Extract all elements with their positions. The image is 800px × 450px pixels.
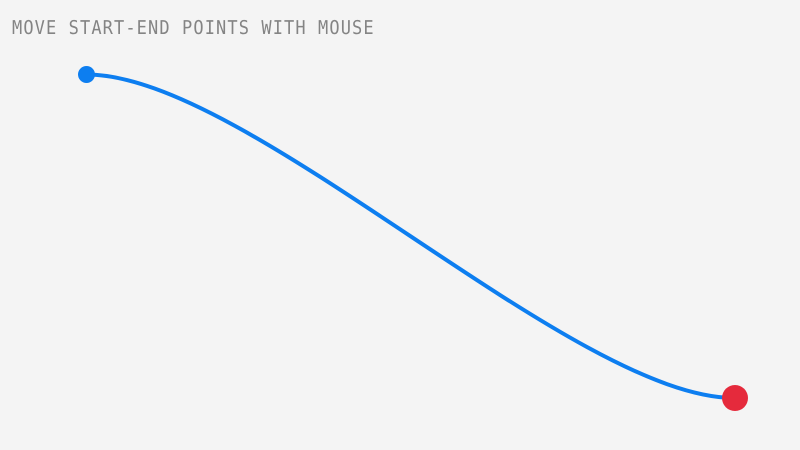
start-point-handle[interactable]: [78, 66, 95, 83]
canvas-stage[interactable]: MOVE START-END POINTS WITH MOUSE: [0, 0, 800, 450]
end-point-handle[interactable]: [722, 385, 748, 411]
canvas-background: [0, 0, 800, 450]
bezier-canvas[interactable]: [0, 0, 800, 450]
